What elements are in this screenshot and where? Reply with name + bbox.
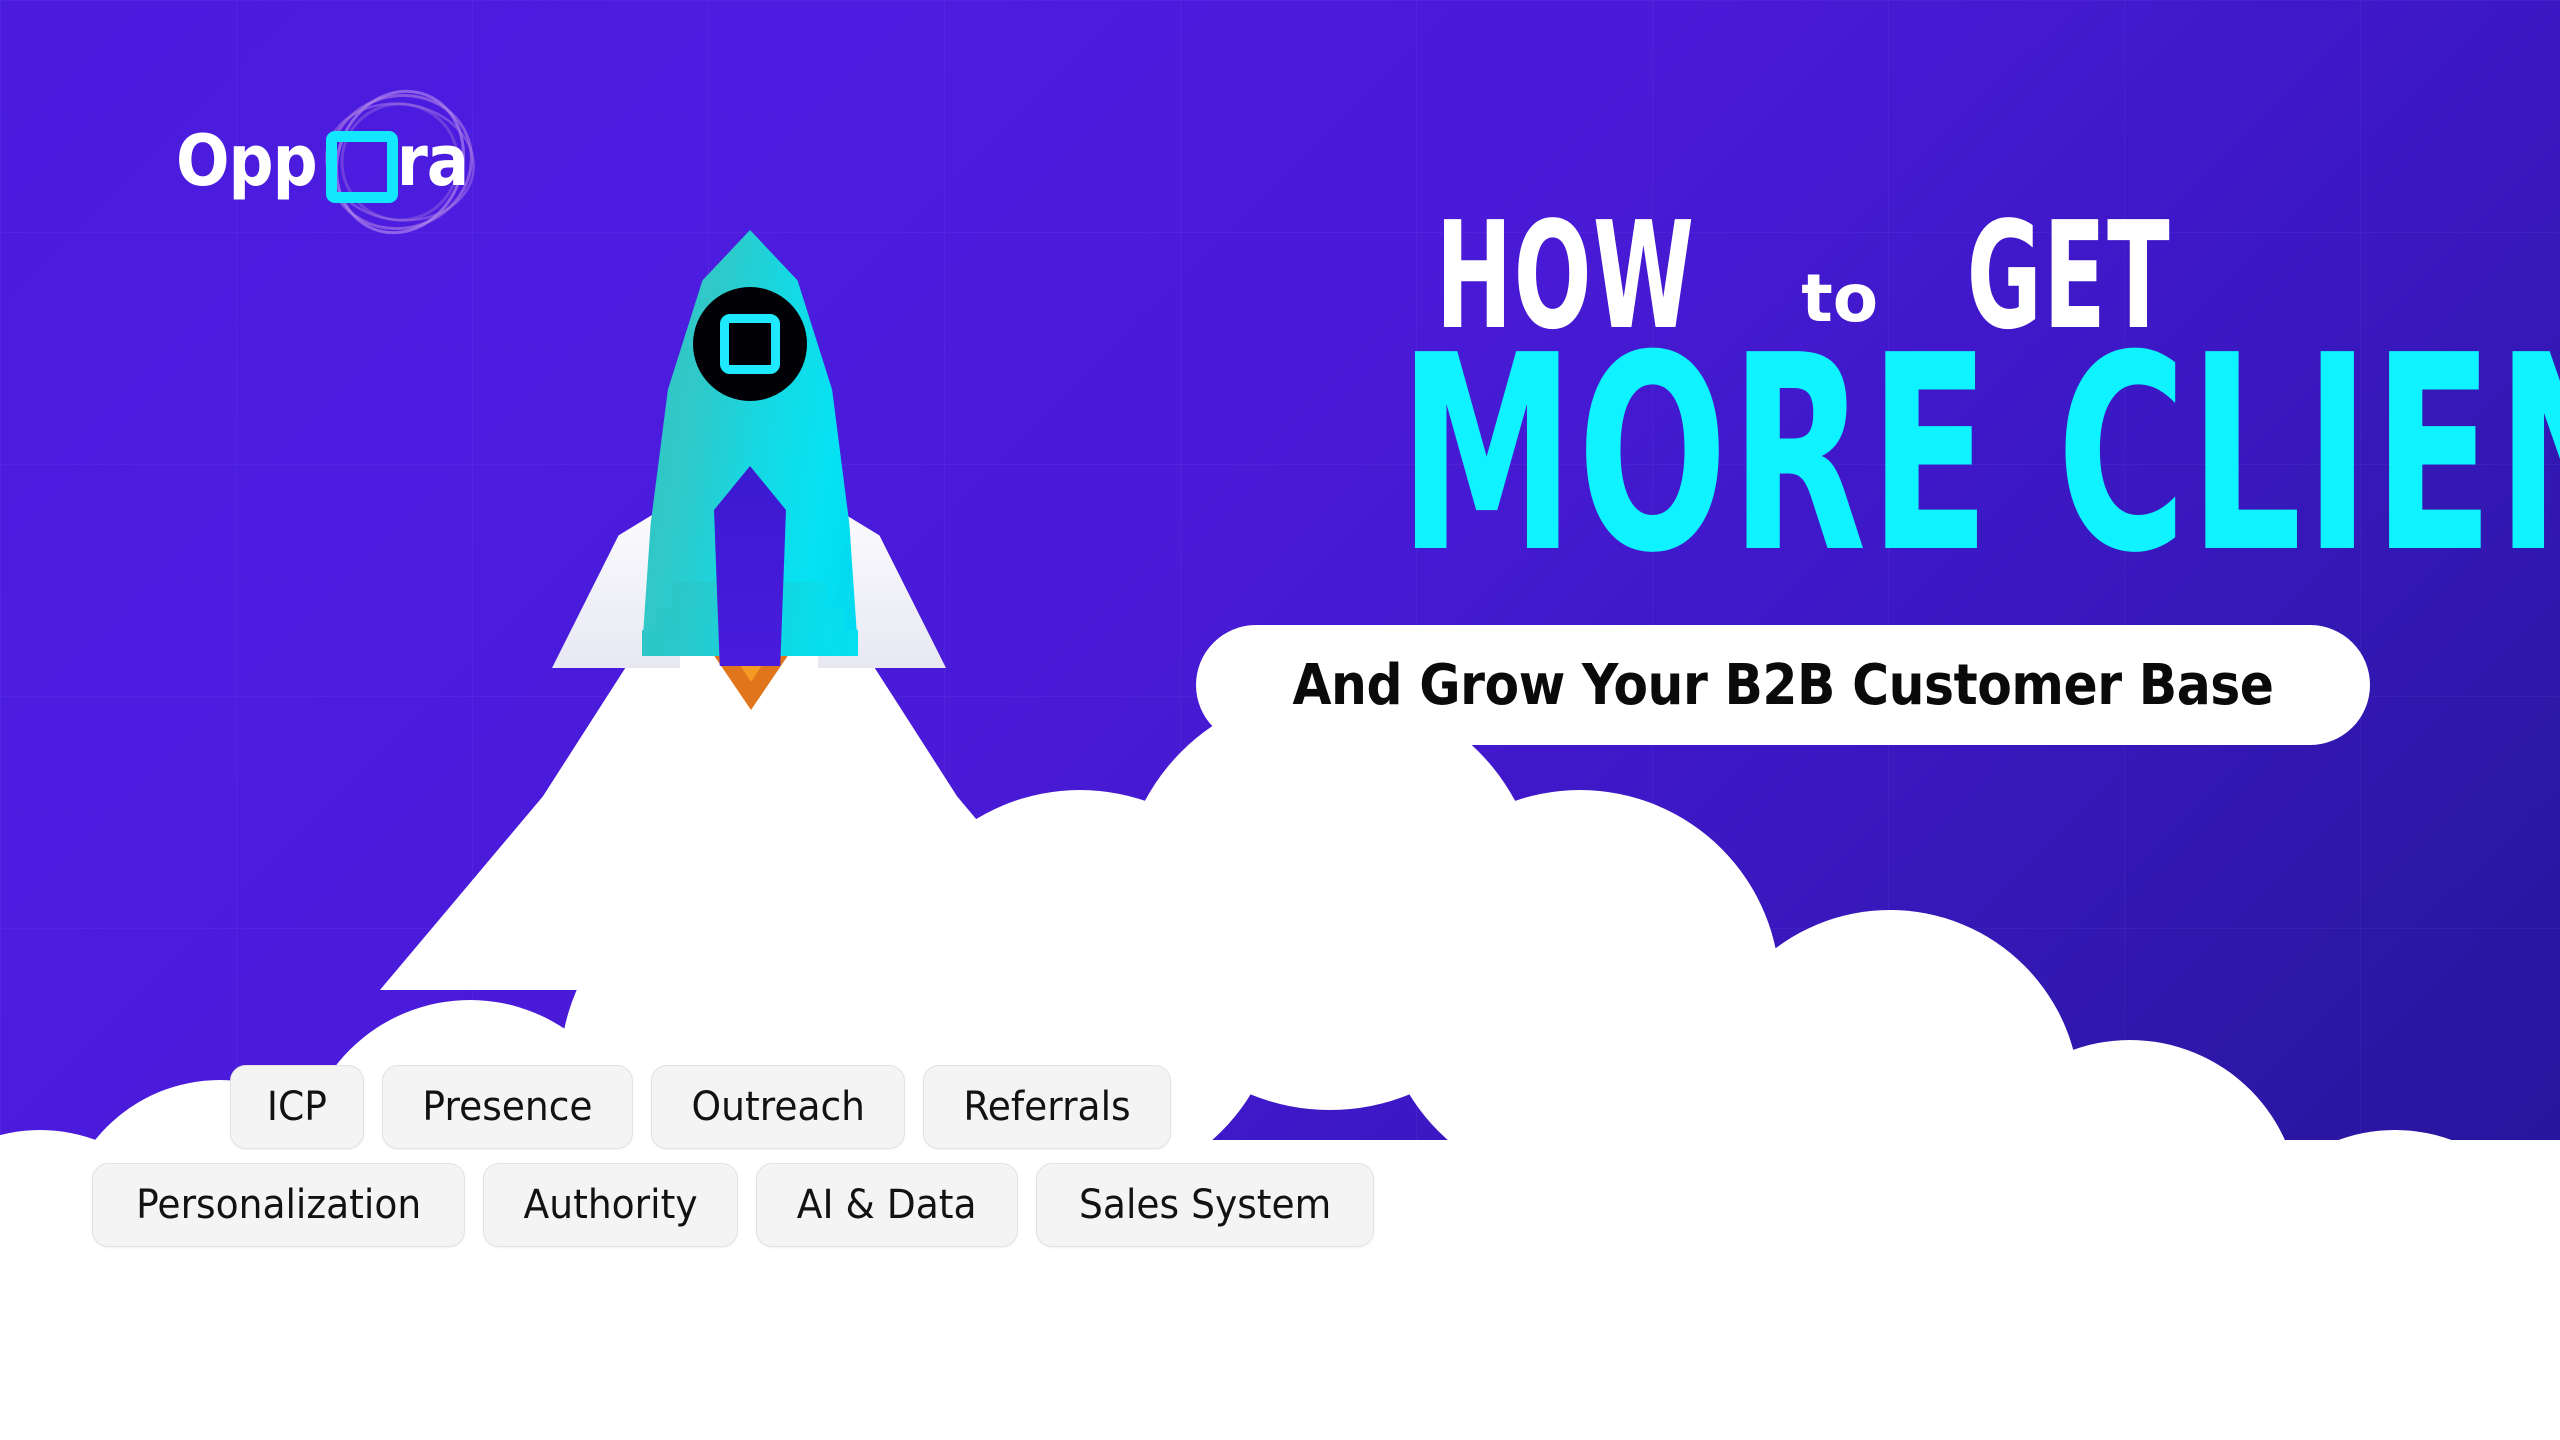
poster-canvas: Opp ra [0, 0, 2560, 1440]
logo-prefix: Opp [176, 126, 317, 196]
subtitle-pill: And Grow Your B2B Customer Base [1196, 625, 2370, 745]
tag-personalization[interactable]: Personalization [92, 1163, 465, 1247]
headline-block: HOW to GET MORE CLIENTS [1190, 210, 2400, 565]
tag-label: Authority [524, 1182, 698, 1228]
headline-line-2: MORE CLIENTS [1399, 344, 2192, 565]
subtitle-text: And Grow Your B2B Customer Base [1292, 653, 2273, 718]
tag-label: Presence [422, 1084, 592, 1130]
tag-label: Personalization [136, 1182, 421, 1228]
tag-label: Referrals [964, 1084, 1131, 1130]
tag-label: Outreach [691, 1084, 864, 1130]
topic-tag-list: ICP Presence Outreach Referrals Personal… [92, 1065, 1512, 1261]
tag-icp[interactable]: ICP [230, 1065, 364, 1149]
tag-ai-and-data[interactable]: AI & Data [756, 1163, 1017, 1247]
tag-row-1: ICP Presence Outreach Referrals [230, 1065, 1512, 1149]
brand-logo[interactable]: Opp ra [176, 118, 468, 204]
tag-label: ICP [267, 1084, 327, 1130]
tag-outreach[interactable]: Outreach [651, 1065, 906, 1149]
porthole-icon [693, 287, 807, 401]
tag-row-2: Personalization Authority AI & Data Sale… [92, 1163, 1512, 1247]
logo-suffix: ra [397, 126, 469, 196]
tag-referrals[interactable]: Referrals [923, 1065, 1171, 1149]
tag-authority[interactable]: Authority [483, 1163, 738, 1247]
logo-wordmark: Opp ra [176, 124, 468, 198]
tag-presence[interactable]: Presence [382, 1065, 633, 1149]
tag-label: AI & Data [797, 1182, 977, 1228]
tag-sales-system[interactable]: Sales System [1036, 1163, 1374, 1247]
tag-label: Sales System [1079, 1182, 1331, 1228]
smoke-cloud [0, 680, 2560, 1440]
logo-o-mark [320, 124, 394, 198]
